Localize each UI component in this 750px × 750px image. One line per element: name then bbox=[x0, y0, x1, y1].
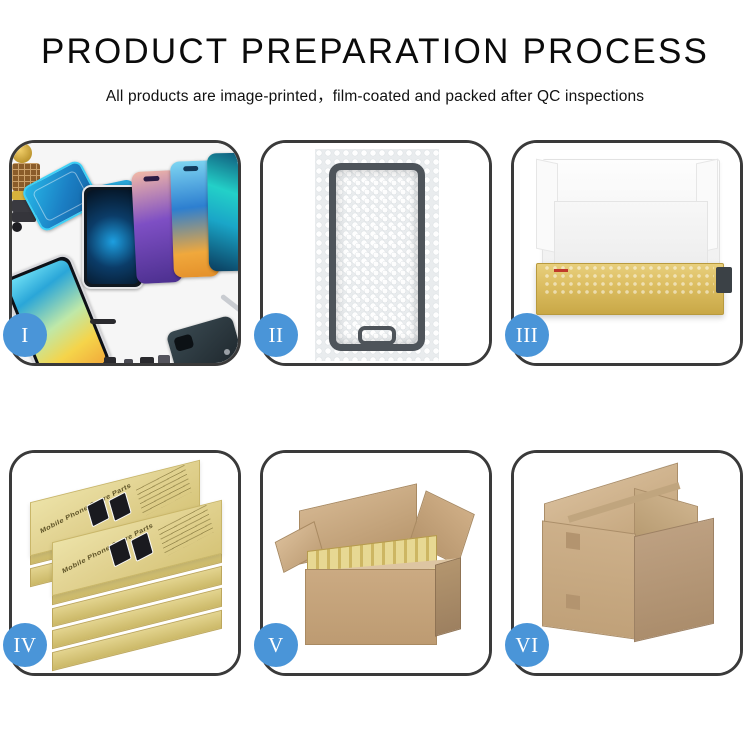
wrapped-phone-screen bbox=[329, 163, 425, 351]
screw-small-2 bbox=[232, 355, 238, 361]
screen-connector bbox=[716, 267, 732, 293]
phone-teal-screen bbox=[207, 153, 238, 272]
page-title: PRODUCT PREPARATION PROCESS bbox=[0, 34, 750, 71]
home-button-cutout bbox=[358, 326, 396, 345]
process-step-panel-2[interactable]: II bbox=[260, 140, 492, 366]
part-battery-connector bbox=[124, 359, 133, 363]
process-step-panel-6[interactable]: VI bbox=[511, 450, 743, 676]
carton-front-face bbox=[305, 569, 437, 645]
carton-tab-upper bbox=[566, 532, 580, 550]
process-step-panel-5[interactable]: V bbox=[260, 450, 492, 676]
step-badge-1: I bbox=[3, 313, 47, 357]
bubble-wrap-sheet bbox=[315, 149, 439, 361]
step-badge-5: V bbox=[254, 623, 298, 667]
process-step-panel-4[interactable]: Mobile Phone Spare Parts Mobile Phone Sp… bbox=[9, 450, 241, 676]
part-connector-strip bbox=[90, 319, 116, 324]
part-camera-lens bbox=[12, 222, 22, 232]
step-badge-4: IV bbox=[3, 623, 47, 667]
sealed-carton-right-face bbox=[634, 518, 714, 642]
sealed-carton-front-face bbox=[542, 520, 636, 639]
carton-tab-lower bbox=[566, 594, 580, 610]
box-inner-foam bbox=[554, 201, 708, 269]
step-badge-3: III bbox=[505, 313, 549, 357]
wrapped-screen-in-tray bbox=[544, 265, 714, 297]
process-step-panel-3[interactable]: III bbox=[511, 140, 743, 366]
repair-tweezers bbox=[220, 294, 238, 318]
page-header: PRODUCT PREPARATION PROCESS All products… bbox=[0, 0, 750, 106]
carton-side-face bbox=[435, 557, 461, 636]
part-speaker-module bbox=[140, 357, 154, 363]
step-badge-2: II bbox=[254, 313, 298, 357]
page-subtitle: All products are image-printed，film-coat… bbox=[0, 84, 750, 106]
step-badge-6: VI bbox=[505, 623, 549, 667]
process-step-grid: I II bbox=[9, 140, 743, 676]
screw-small-1 bbox=[224, 349, 230, 355]
part-vibration-motor bbox=[12, 143, 32, 163]
screen-red-marker bbox=[554, 269, 568, 272]
phone-back-housing bbox=[166, 315, 238, 363]
part-charging-port bbox=[158, 355, 170, 363]
part-chip-small bbox=[104, 357, 116, 363]
box-label-spec-lines-2 bbox=[158, 505, 214, 557]
process-step-panel-1[interactable]: I bbox=[9, 140, 241, 366]
